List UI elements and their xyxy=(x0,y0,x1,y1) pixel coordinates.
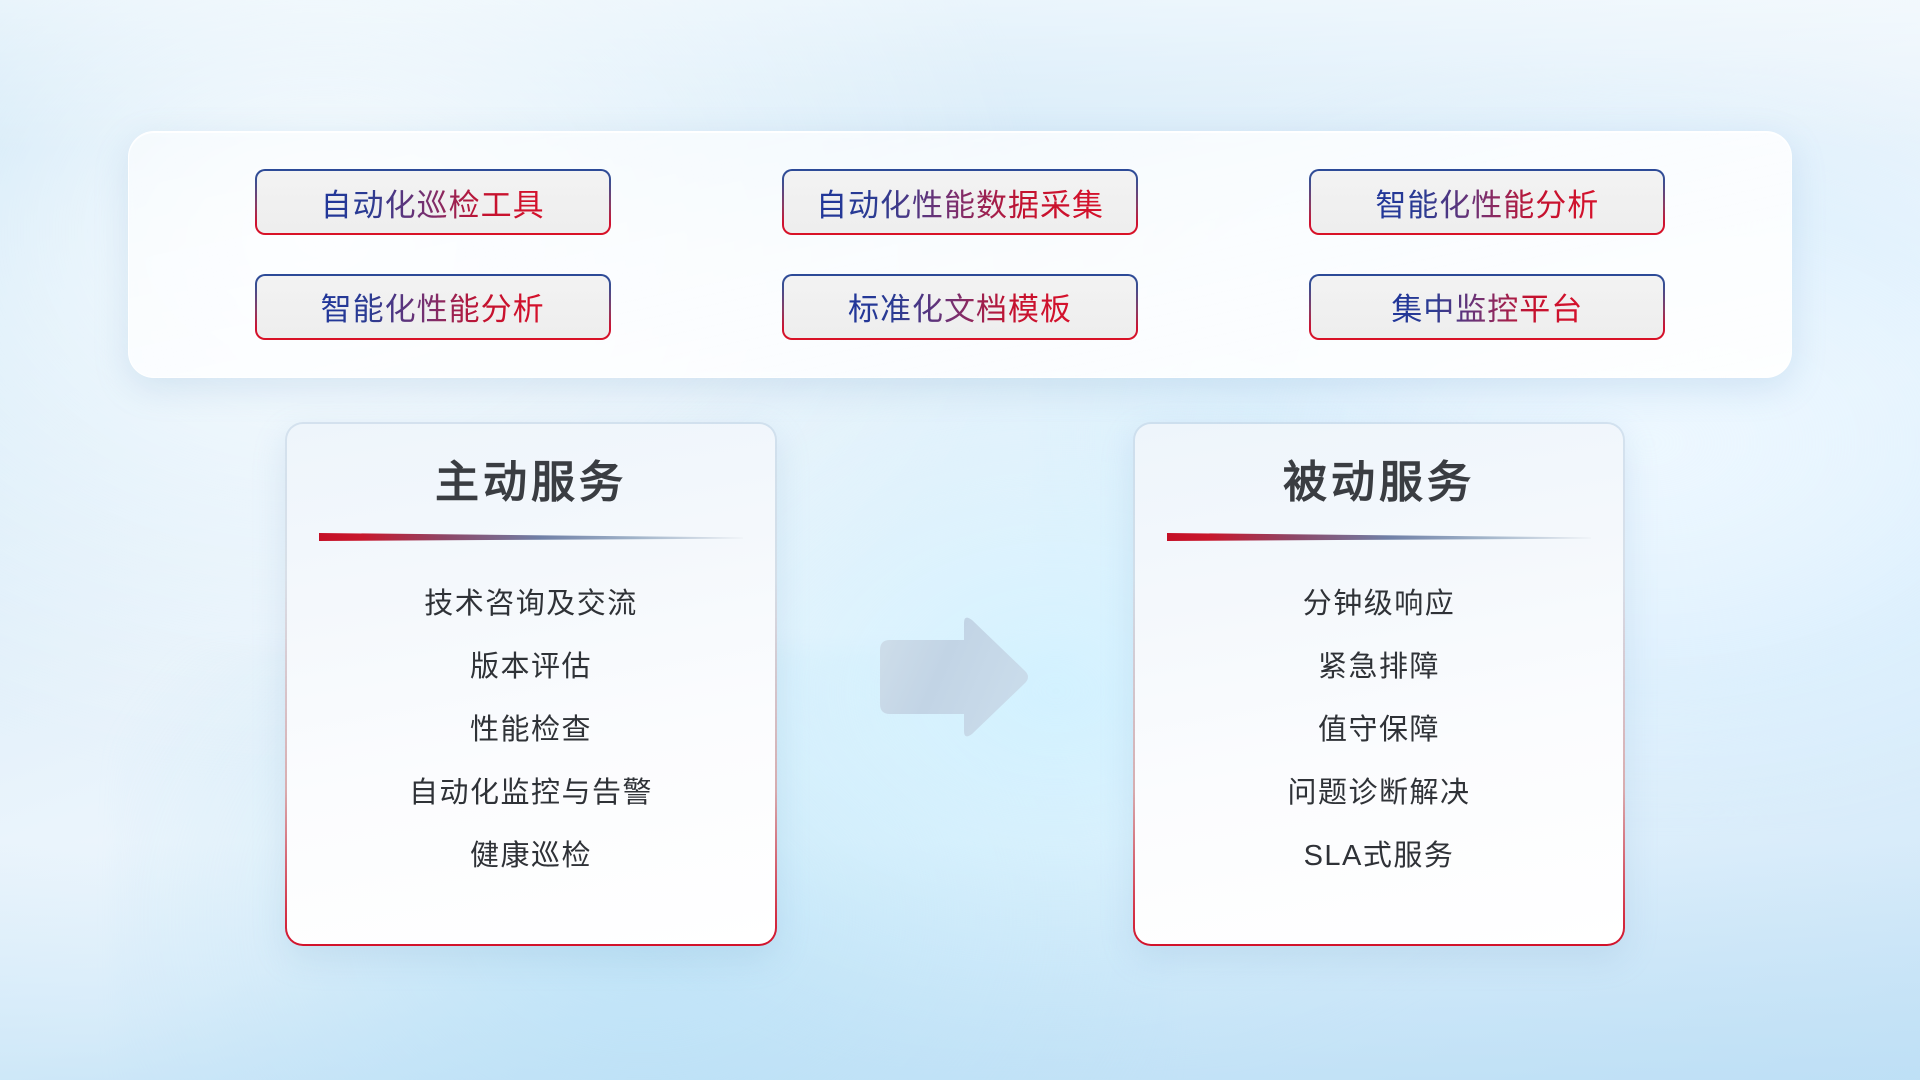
service-card-surface: 主动服务 xyxy=(287,424,775,944)
service-card-title: 被动服务 xyxy=(1283,458,1475,509)
service-item[interactable]: 性能检查 xyxy=(470,699,592,762)
service-item[interactable]: 值守保障 xyxy=(1318,699,1440,762)
capability-pill-label: 自动化性能数据采集 xyxy=(816,180,1104,225)
capability-pill-label: 标准化文档模板 xyxy=(848,284,1072,329)
pill-surface: 自动化性能数据采集 xyxy=(784,171,1136,233)
capability-pill-auto-perf-data-collection[interactable]: 自动化性能数据采集 xyxy=(782,169,1138,235)
service-item[interactable]: 紧急排障 xyxy=(1318,636,1440,699)
capability-pill-label: 智能化性能分析 xyxy=(321,284,545,329)
service-card-item-list: 技术咨询及交流 版本评估 性能检查 自动化监控与告警 健康巡检 xyxy=(317,573,745,888)
capability-pill-smart-perf-analysis-bottom[interactable]: 智能化性能分析 xyxy=(255,274,611,340)
capability-pill-central-monitoring-platform[interactable]: 集中监控平台 xyxy=(1309,274,1665,340)
service-item[interactable]: 自动化监控与告警 xyxy=(409,762,653,825)
capability-pill-label: 自动化巡检工具 xyxy=(321,180,545,225)
capability-pill-smart-perf-analysis-top[interactable]: 智能化性能分析 xyxy=(1309,169,1665,235)
service-item[interactable]: 版本评估 xyxy=(470,636,592,699)
service-item[interactable]: 健康巡检 xyxy=(470,825,592,888)
service-card-divider xyxy=(1167,531,1591,543)
service-item[interactable]: 技术咨询及交流 xyxy=(424,573,638,636)
service-item[interactable]: SLA式服务 xyxy=(1304,825,1455,888)
pill-surface: 智能化性能分析 xyxy=(257,276,609,338)
service-card-surface: 被动服务 xyxy=(1135,424,1623,944)
service-card-title: 主动服务 xyxy=(435,458,627,509)
capability-panel: 自动化巡检工具 自动化性能数据采集 智能化性能分析 智能化性能分析 xyxy=(128,131,1792,378)
pill-surface: 标准化文档模板 xyxy=(784,276,1136,338)
service-item[interactable]: 问题诊断解决 xyxy=(1287,762,1470,825)
pill-surface: 自动化巡检工具 xyxy=(257,171,609,233)
service-card-divider xyxy=(319,531,743,543)
pill-surface: 智能化性能分析 xyxy=(1311,171,1663,233)
arrow-right-icon xyxy=(872,612,1032,742)
service-item[interactable]: 分钟级响应 xyxy=(1303,573,1456,636)
service-card-reactive[interactable]: 被动服务 xyxy=(1133,422,1625,946)
capability-pill-auto-inspection-tool[interactable]: 自动化巡检工具 xyxy=(255,169,611,235)
service-card-proactive[interactable]: 主动服务 xyxy=(285,422,777,946)
service-card-item-list: 分钟级响应 紧急排障 值守保障 问题诊断解决 SLA式服务 xyxy=(1165,573,1593,888)
capability-pill-label: 集中监控平台 xyxy=(1391,284,1583,329)
pill-surface: 集中监控平台 xyxy=(1311,276,1663,338)
capability-pill-label: 智能化性能分析 xyxy=(1375,180,1599,225)
diagram-stage: 自动化巡检工具 自动化性能数据采集 智能化性能分析 智能化性能分析 xyxy=(0,0,1920,1080)
capability-pill-grid: 自动化巡检工具 自动化性能数据采集 智能化性能分析 智能化性能分析 xyxy=(129,132,1791,377)
capability-pill-standard-doc-template[interactable]: 标准化文档模板 xyxy=(782,274,1138,340)
